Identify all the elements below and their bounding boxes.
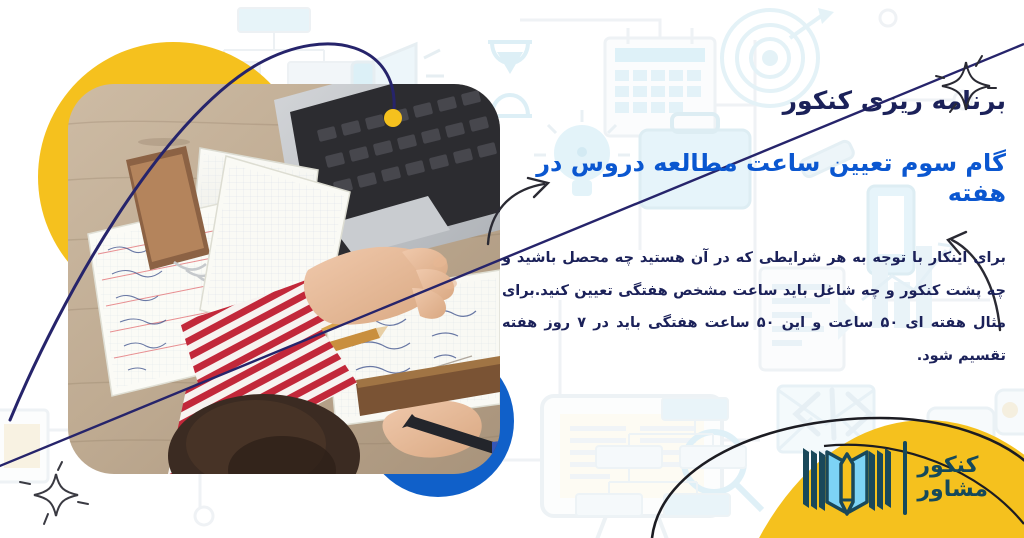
text-content: برنامه ریزی کنکور گام سوم تعیین ساعت مطا…: [496, 86, 1006, 373]
code-brackets-icon: [796, 390, 870, 438]
open-book-icon: [801, 438, 893, 518]
org-chart-icon: [576, 398, 746, 516]
logo-line-2: مشاور: [917, 478, 988, 502]
magnifier-icon: [684, 432, 762, 510]
document-icon: [0, 410, 48, 482]
study-desk-photo: [68, 84, 500, 474]
logo-line-1: کنکور: [917, 454, 978, 478]
page-subtitle: گام سوم تعیین ساعت مطالعه دروس در هفته: [496, 148, 1006, 208]
body-paragraph: برای اینکار با توجه به هر شرایطی که در آ…: [496, 242, 1006, 373]
sparkle-icon-bottom-left: [18, 458, 94, 528]
logo-divider: [903, 441, 907, 515]
brand-logo[interactable]: کنکور مشاور: [801, 438, 988, 518]
page-title: برنامه ریزی کنکور: [496, 86, 1006, 116]
banner-root: برنامه ریزی کنکور گام سوم تعیین ساعت مطا…: [0, 0, 1024, 538]
logo-wordmark: کنکور مشاور: [917, 454, 988, 502]
monitor-icon: [542, 396, 722, 538]
